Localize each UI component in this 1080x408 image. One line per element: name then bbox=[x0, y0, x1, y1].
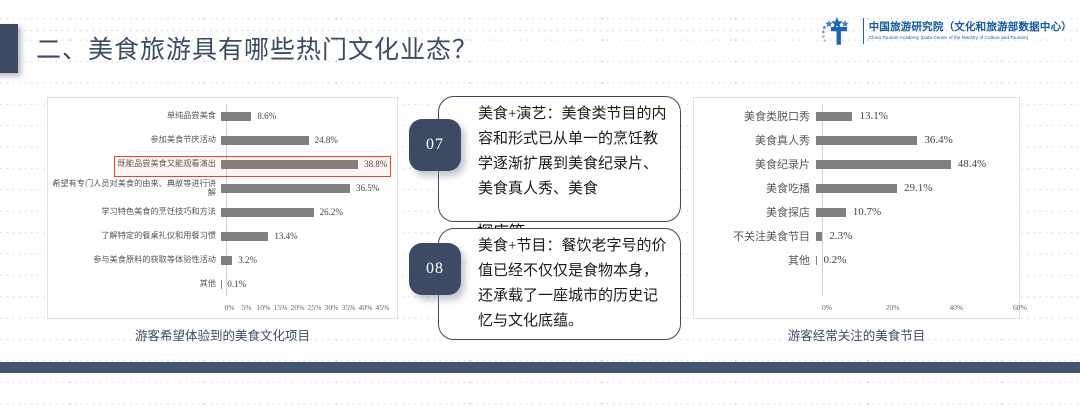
callout-07-badge: 07 bbox=[409, 119, 461, 171]
chart-xtick-label: 0% bbox=[221, 303, 238, 312]
chart-value-label: 48.4% bbox=[958, 158, 986, 170]
chart-xtick-label: 60% bbox=[1013, 303, 1077, 312]
chart-row: 参与美食原料的获取等体验性活动3.2% bbox=[48, 248, 397, 272]
chart-row: 其他0.2% bbox=[694, 248, 1019, 272]
callout-08-badge: 08 bbox=[409, 243, 461, 295]
bottom-decorative-bar bbox=[0, 362, 1080, 373]
callout-08-text: 美食+节目：餐饮老字号的价值已经不仅仅是食物本身，还承载了一座城市的历史记忆与文… bbox=[478, 234, 671, 334]
right-chart-caption: 游客经常关注的美食节目 bbox=[693, 325, 1020, 344]
right-chart-panel: 美食类脱口秀13.1%美食真人秀36.4%美食纪录片48.4%美食吃播29.1%… bbox=[693, 97, 1020, 319]
chart-bar bbox=[816, 112, 852, 121]
chart-category-label: 美食真人秀 bbox=[694, 132, 816, 148]
chart-row: 美食真人秀36.4% bbox=[694, 128, 1019, 152]
chart-bar bbox=[816, 136, 917, 145]
chart-category-label: 其他 bbox=[48, 279, 221, 289]
chart-value-label: 38.8% bbox=[364, 159, 387, 169]
callout-box-08: 美食+节目：餐饮老字号的价值已经不仅仅是食物本身，还承载了一座城市的历史记忆与文… bbox=[438, 228, 681, 340]
chart-bar-track: 0.1% bbox=[221, 272, 397, 296]
chart-bar bbox=[816, 184, 897, 193]
chart-row: 单纯品尝美食8.6% bbox=[48, 104, 397, 128]
chart-row: 美食探店10.7% bbox=[694, 200, 1019, 224]
chart-value-label: 0.2% bbox=[824, 254, 847, 266]
chart-bar bbox=[221, 256, 232, 265]
left-chart-caption: 游客希望体验到的美食文化项目 bbox=[47, 325, 398, 344]
chart-xtick-label: 40% bbox=[949, 303, 1013, 312]
chart-bar-track: 13.4% bbox=[221, 224, 397, 248]
chart-value-label: 36.5% bbox=[356, 183, 379, 193]
chart-bar-track: 2.3% bbox=[816, 224, 1019, 248]
chart-value-label: 0.1% bbox=[227, 279, 246, 289]
chart-bar bbox=[816, 160, 951, 169]
chart-xtick-label: 25% bbox=[306, 303, 323, 312]
chart-value-label: 3.2% bbox=[238, 255, 257, 265]
chart-row: 了解特定的餐桌礼仪和用餐习惯13.4% bbox=[48, 224, 397, 248]
chart-value-label: 29.1% bbox=[904, 182, 932, 194]
chart-category-label: 美食吃播 bbox=[694, 180, 816, 196]
chart-bar bbox=[221, 208, 314, 217]
chart-row: 美食吃播29.1% bbox=[694, 176, 1019, 200]
chart-bar bbox=[221, 184, 350, 193]
chart-row: 美食纪录片48.4% bbox=[694, 152, 1019, 176]
logo-name-cn: 中国旅游研究院（文化和旅游部数据中心） bbox=[869, 21, 1072, 34]
chart-value-label: 26.2% bbox=[320, 207, 343, 217]
chart-row: 学习特色美食的烹饪技巧和方法26.2% bbox=[48, 200, 397, 224]
chart-xtick-label: 10% bbox=[255, 303, 272, 312]
chart-value-label: 24.8% bbox=[315, 135, 338, 145]
chart-bar-track: 3.2% bbox=[221, 248, 397, 272]
chart-category-label: 单纯品尝美食 bbox=[48, 111, 221, 121]
chart-row: 其他0.1% bbox=[48, 272, 397, 296]
chart-bar bbox=[221, 112, 251, 121]
chart-bar bbox=[816, 232, 822, 241]
chart-bar bbox=[221, 232, 268, 241]
chart-category-label: 不关注美食节目 bbox=[694, 228, 816, 244]
chart-bar-track: 36.5% bbox=[221, 176, 397, 200]
right-chart-rows: 美食类脱口秀13.1%美食真人秀36.4%美食纪录片48.4%美食吃播29.1%… bbox=[694, 104, 1019, 272]
chart-value-label: 10.7% bbox=[853, 206, 881, 218]
chart-category-label: 其他 bbox=[694, 252, 816, 268]
chart-category-label: 了解特定的餐桌礼仪和用餐习惯 bbox=[48, 231, 221, 241]
page-title: 二、美食旅游具有哪些热门文化业态？ bbox=[36, 30, 478, 66]
chart-xtick-label: 0% bbox=[822, 303, 886, 312]
chart-value-label: 13.1% bbox=[859, 110, 887, 122]
chart-value-label: 8.6% bbox=[257, 111, 276, 121]
chart-category-label: 既能品尝美食又能观看演出 bbox=[48, 159, 221, 169]
logo-text: 中国旅游研究院（文化和旅游部数据中心） China Tourism Academ… bbox=[863, 18, 1072, 44]
chart-row: 希望有专门人员对美食的由来、典故等进行讲解36.5% bbox=[48, 176, 397, 200]
chart-category-label: 参加美食节庆活动 bbox=[48, 135, 221, 145]
chart-category-label: 美食纪录片 bbox=[694, 156, 816, 172]
chart-category-label: 希望有专门人员对美食的由来、典故等进行讲解 bbox=[48, 179, 221, 198]
chart-bar-track: 36.4% bbox=[816, 128, 1019, 152]
chart-bar bbox=[816, 208, 846, 217]
chart-category-label: 美食探店 bbox=[694, 204, 816, 220]
chart-row: 不关注美食节目2.3% bbox=[694, 224, 1019, 248]
chart-category-label: 美食类脱口秀 bbox=[694, 108, 816, 124]
chart-value-label: 2.3% bbox=[829, 230, 852, 242]
left-chart-panel: 单纯品尝美食8.6%参加美食节庆活动24.8%既能品尝美食又能观看演出38.8%… bbox=[47, 97, 398, 319]
left-chart-rows: 单纯品尝美食8.6%参加美食节庆活动24.8%既能品尝美食又能观看演出38.8%… bbox=[48, 104, 397, 296]
chart-bar bbox=[816, 256, 817, 265]
chart-xtick-label: 35% bbox=[340, 303, 357, 312]
chart-bar-track: 26.2% bbox=[221, 200, 397, 224]
chart-bar bbox=[221, 160, 358, 169]
chart-bar-track: 38.8% bbox=[221, 152, 397, 176]
chart-bar bbox=[221, 136, 309, 145]
chart-bar-track: 10.7% bbox=[816, 200, 1019, 224]
chart-row: 既能品尝美食又能观看演出38.8% bbox=[48, 152, 397, 176]
chart-value-label: 36.4% bbox=[924, 134, 952, 146]
chart-bar-track: 8.6% bbox=[221, 104, 397, 128]
chart-category-label: 参与美食原料的获取等体验性活动 bbox=[48, 255, 221, 265]
chart-row: 参加美食节庆活动24.8% bbox=[48, 128, 397, 152]
chart-bar-track: 24.8% bbox=[221, 128, 397, 152]
chart-bar-track: 13.1% bbox=[816, 104, 1019, 128]
logo-name-en: China Tourism Academy (Data Center of th… bbox=[869, 34, 1072, 41]
chart-value-label: 13.4% bbox=[274, 231, 297, 241]
chart-xtick-label: 20% bbox=[289, 303, 306, 312]
chart-bar-track: 0.2% bbox=[816, 248, 1019, 272]
callout-box-07: 美食+演艺：美食类节目的内容和形式已从单一的烹饪教学逐渐扩展到美食纪录片、美食真… bbox=[438, 96, 681, 222]
callout-07-text: 美食+演艺：美食类节目的内容和形式已从单一的烹饪教学逐渐扩展到美食纪录片、美食真… bbox=[478, 102, 671, 202]
chart-xtick-label: 15% bbox=[272, 303, 289, 312]
chart-row: 美食类脱口秀13.1% bbox=[694, 104, 1019, 128]
chart-xtick-label: 40% bbox=[357, 303, 374, 312]
chart-xtick-label: 30% bbox=[323, 303, 340, 312]
tourism-academy-mark-icon bbox=[817, 15, 857, 47]
chart-bar-track: 48.4% bbox=[816, 152, 1019, 176]
chart-category-label: 学习特色美食的烹饪技巧和方法 bbox=[48, 207, 221, 217]
chart-xtick-label: 5% bbox=[238, 303, 255, 312]
left-chart-xticks: 0%5%10%15%20%25%30%35%40%45% bbox=[221, 300, 391, 314]
right-chart-xticks: 0%20%40%60% bbox=[822, 300, 1013, 314]
chart-bar-track: 29.1% bbox=[816, 176, 1019, 200]
title-accent-shape bbox=[0, 24, 18, 73]
chart-xtick-label: 45% bbox=[374, 303, 391, 312]
organization-logo: 中国旅游研究院（文化和旅游部数据中心） China Tourism Academ… bbox=[817, 14, 1072, 48]
chart-xtick-label: 20% bbox=[886, 303, 950, 312]
